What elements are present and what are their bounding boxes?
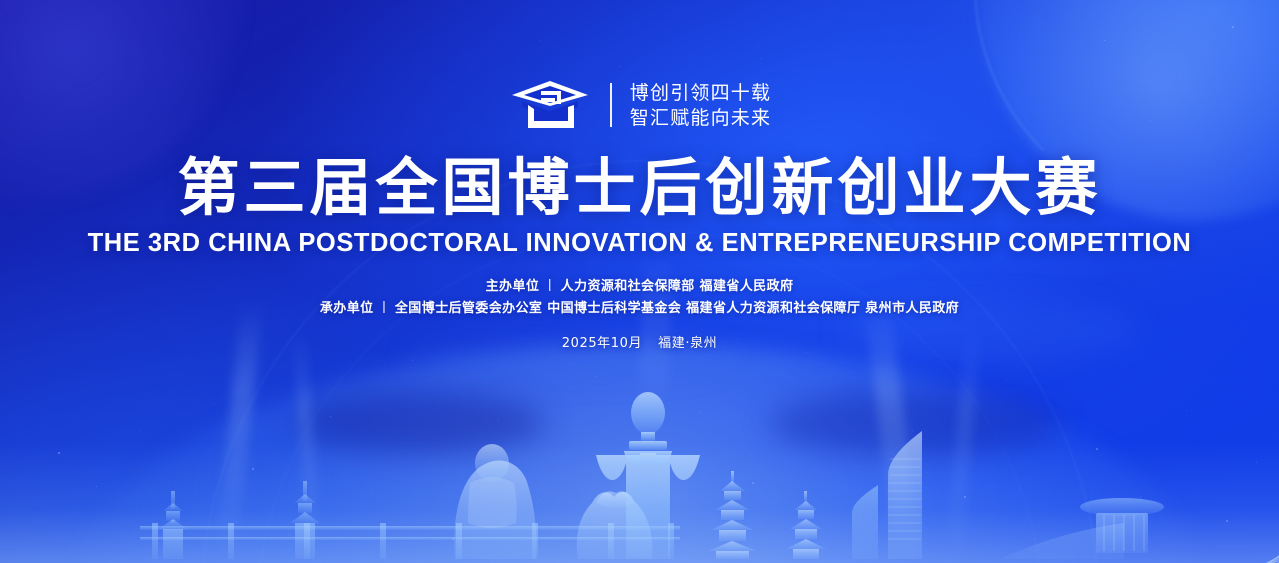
organizer-entities: 全国博士后管委会办公室 中国博士后科学基金会 福建省人力资源和社会保障厅 泉州市…: [395, 301, 959, 316]
star-speck: [1256, 462, 1257, 463]
organizer-block: 主办单位丨人力资源和社会保障部 福建省人民政府 承办单位丨全国博士后管委会办公室…: [0, 276, 1279, 320]
organizer-role: 承办单位: [320, 301, 374, 316]
star-speck: [58, 452, 60, 454]
star-speck: [172, 520, 174, 522]
event-date: 2025年10月: [562, 336, 642, 351]
page-title-chinese: 第三届全国博士后创新创业大赛: [0, 154, 1279, 222]
star-speck: [140, 430, 141, 431]
star-speck: [1096, 448, 1098, 450]
logo-divider: [610, 83, 612, 127]
star-speck: [1186, 410, 1187, 411]
organizer-role: 主办单位: [486, 279, 540, 294]
logo-lockup: 博创引领四十载 智汇赋能向未来: [0, 76, 1279, 134]
slogan-line-1: 博创引领四十载: [630, 82, 771, 104]
organizer-separator: 丨: [539, 279, 560, 294]
star-speck: [1226, 520, 1228, 522]
banner-stage: 博创引领四十载 智汇赋能向未来 第三届全国博士后创新创业大赛 THE 3RD C…: [0, 0, 1279, 563]
stone-pagoda-icon: [159, 491, 187, 559]
organizer-line: 承办单位丨全国博士后管委会办公室 中国博士后科学基金会 福建省人力资源和社会保障…: [0, 298, 1279, 320]
event-date-location: 2025年10月福建·泉州: [0, 334, 1279, 354]
star-speck: [96, 486, 97, 487]
event-location: 福建·泉州: [658, 336, 717, 351]
star-speck: [1140, 496, 1141, 497]
organizer-entities: 人力资源和社会保障部 福建省人民政府: [561, 279, 794, 294]
organizer-line: 主办单位丨人力资源和社会保障部 福建省人民政府: [0, 276, 1279, 298]
page-title-english: THE 3RD CHINA POSTDOCTORAL INNOVATION & …: [0, 228, 1279, 258]
star-speck: [214, 404, 215, 405]
slogan-line-2: 智汇赋能向未来: [630, 107, 771, 129]
banner-content: 博创引领四十载 智汇赋能向未来 第三届全国博士后创新创业大赛 THE 3RD C…: [0, 0, 1279, 354]
slogan-block: 博创引领四十载 智汇赋能向未来: [630, 82, 771, 129]
graduation-cap-emblem-icon: [508, 79, 592, 131]
organizer-separator: 丨: [374, 301, 395, 316]
